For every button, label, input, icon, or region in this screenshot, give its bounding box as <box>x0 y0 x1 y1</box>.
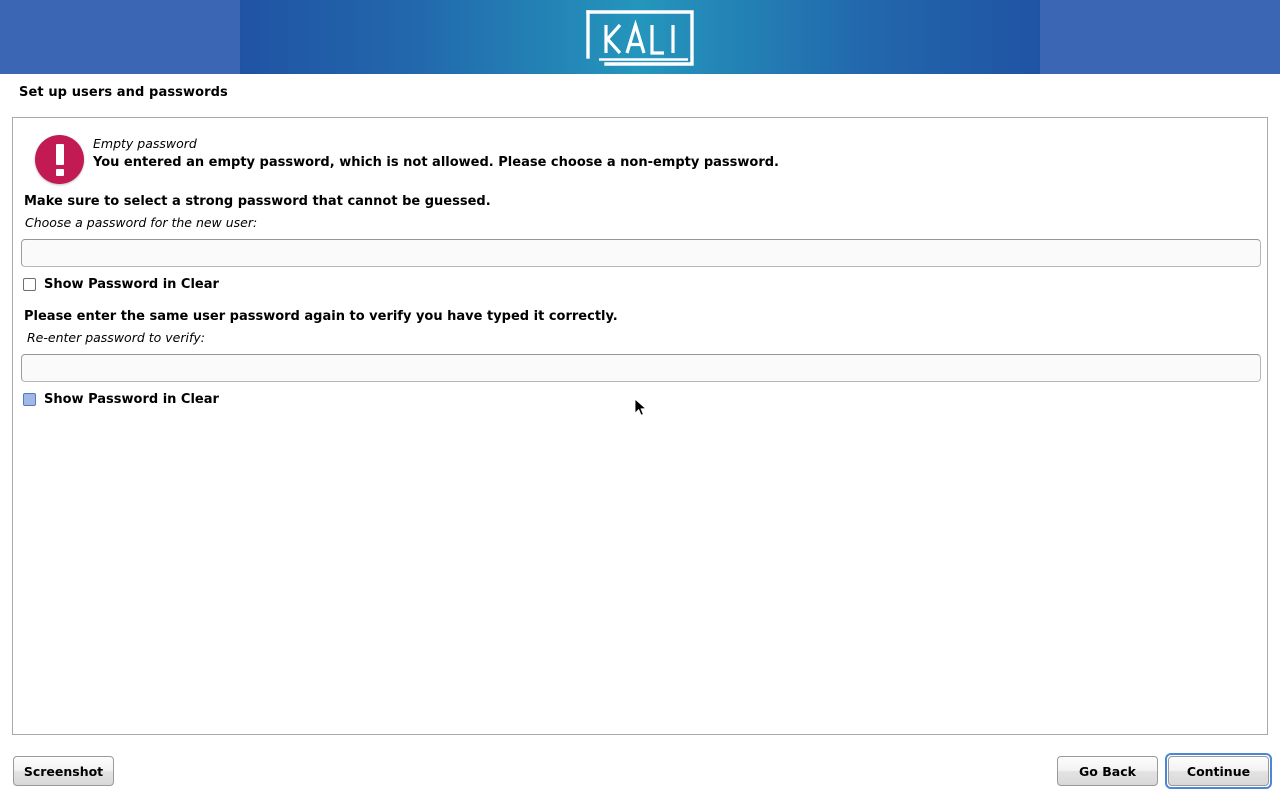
show-password-checkbox-row-1[interactable]: Show Password in Clear <box>23 277 219 292</box>
verify-password-input[interactable] <box>21 354 1261 382</box>
continue-button[interactable]: Continue <box>1168 756 1269 786</box>
installer-banner <box>0 0 1280 74</box>
show-password-checkbox-2[interactable] <box>23 393 36 406</box>
go-back-button[interactable]: Go Back <box>1057 756 1158 786</box>
error-exclamation-icon <box>35 135 84 184</box>
show-password-label-2: Show Password in Clear <box>44 392 219 407</box>
kali-logo-icon <box>584 8 696 68</box>
installer-content-panel: Empty password You entered an empty pass… <box>12 117 1268 735</box>
page-title: Set up users and passwords <box>19 85 228 100</box>
password-input[interactable] <box>21 239 1261 267</box>
error-message-text: You entered an empty password, which is … <box>93 155 779 170</box>
mouse-cursor-icon <box>634 398 648 418</box>
show-password-checkbox-1[interactable] <box>23 278 36 291</box>
screenshot-button[interactable]: Screenshot <box>13 756 114 786</box>
password-field-label: Choose a password for the new user: <box>25 215 257 230</box>
verify-instruction-text: Please enter the same user password agai… <box>24 309 618 324</box>
verify-field-label: Re-enter password to verify: <box>27 330 205 345</box>
show-password-checkbox-row-2[interactable]: Show Password in Clear <box>23 392 219 407</box>
password-advice-text: Make sure to select a strong password th… <box>24 194 491 209</box>
error-heading: Empty password <box>93 136 197 151</box>
error-message-block: Empty password You entered an empty pass… <box>24 127 1244 189</box>
show-password-label-1: Show Password in Clear <box>44 277 219 292</box>
